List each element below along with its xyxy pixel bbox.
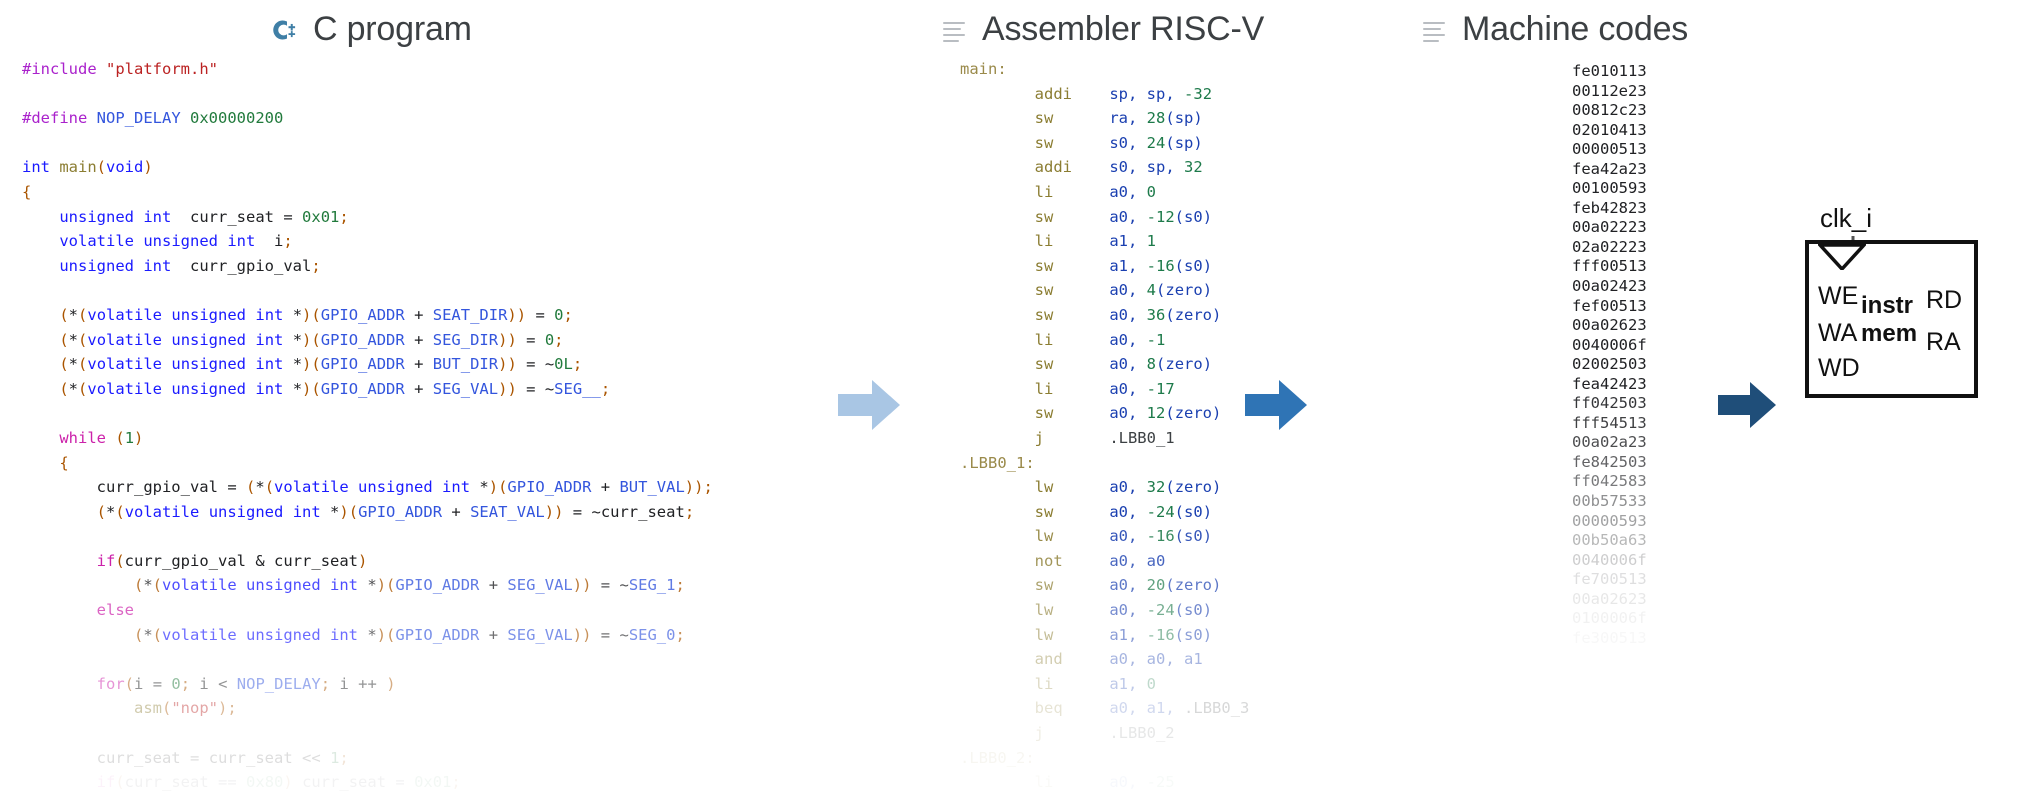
machine-code-line: 02010413 (1572, 121, 1762, 141)
code-line: volatile unsigned int i; (22, 229, 682, 254)
asm-line: sw a0, 4(zero) (960, 278, 1350, 303)
code-line (22, 82, 682, 107)
machine-code-line: 00a02a23 (1572, 433, 1762, 453)
code-line (22, 401, 682, 426)
machine-code-line: 0040006f (1572, 336, 1762, 356)
code-line: curr_seat = curr_seat << 1; (22, 746, 682, 771)
machine-code-line: 0100006f (1572, 609, 1762, 629)
machine-code-line: 00812c23 (1572, 101, 1762, 121)
asm-line: sw a0, 8(zero) (960, 352, 1350, 377)
code-line: #include "platform.h" (22, 57, 682, 82)
machine-code-line: fef00513 (1572, 297, 1762, 317)
code-line: { (22, 180, 682, 205)
slide-canvas: C program #include "platform.h" #define … (0, 0, 2028, 812)
assembler-title: Assembler RISC-V (982, 10, 1264, 49)
code-line (22, 131, 682, 156)
code-line: (*(volatile unsigned int *)(GPIO_ADDR + … (22, 352, 682, 377)
code-line: int main(void) (22, 155, 682, 180)
asm-line: addi s0, sp, 32 (960, 155, 1350, 180)
arrow-c-to-asm (838, 378, 900, 437)
port-wa-label: WA (1818, 319, 1857, 348)
machine-code-line: fff00513 (1572, 257, 1762, 277)
asm-line: sw a0, 20(zero) (960, 573, 1350, 598)
machine-code-line: 00a02223 (1572, 218, 1762, 238)
machine-code-line: 00b57533 (1572, 492, 1762, 512)
machine-code-line: 02a02223 (1572, 238, 1762, 258)
asm-line: .LBB0_2: (960, 746, 1350, 771)
arrow-codes-to-mem (1718, 380, 1776, 435)
asm-line: lw a0, -16(s0) (960, 524, 1350, 549)
asm-line: li a0, 0 (960, 180, 1350, 205)
asm-line: lw a1, -16(s0) (960, 623, 1350, 648)
asm-line: beq a0, a1, .LBB0_3 (960, 696, 1350, 721)
machine-code-line: feb42823 (1572, 199, 1762, 219)
machine-code-line: fe300513 (1572, 629, 1762, 649)
code-line: for(i = 0; i < NOP_DELAY; i ++ ) (22, 672, 682, 697)
code-line (22, 524, 682, 549)
code-line: (*(volatile unsigned int *)(GPIO_ADDR + … (22, 623, 682, 648)
cpp-logo-icon (265, 13, 299, 47)
block-title-line1: instr (1861, 292, 1913, 319)
asm-line: sw a1, -16(s0) (960, 254, 1350, 279)
asm-line: li a0, -1 (960, 328, 1350, 353)
asm-line: li a0, -25 (960, 770, 1350, 795)
c-program-heading: C program (265, 10, 472, 49)
block-title-line2: mem (1861, 320, 1917, 347)
asm-line: sw a0, -24(s0) (960, 500, 1350, 525)
machine-code-line: fe700513 (1572, 570, 1762, 590)
machine-code-line: ff042583 (1572, 472, 1762, 492)
code-line: asm("nop"); (22, 696, 682, 721)
asm-line: lw a0, -24(s0) (960, 598, 1350, 623)
port-we-label: WE (1818, 282, 1858, 311)
asm-line: .LBB0_1: (960, 451, 1350, 476)
instruction-memory-block[interactable]: WE WA WD RD RA instr mem (1805, 240, 1978, 398)
code-line: (*(volatile unsigned int *)(GPIO_ADDR + … (22, 328, 682, 353)
asm-line: sw a0, -12(s0) (960, 205, 1350, 230)
list-lines-icon (940, 16, 968, 44)
machine-codes-title: Machine codes (1462, 10, 1688, 49)
list-lines-icon (1420, 16, 1448, 44)
asm-line: and a0, a0, a1 (960, 647, 1350, 672)
code-line: (*(volatile unsigned int *)(GPIO_ADDR + … (22, 377, 682, 402)
code-line: curr_gpio_val = (*(volatile unsigned int… (22, 475, 682, 500)
code-line: { (22, 451, 682, 476)
machine-code-line: 00a02423 (1572, 277, 1762, 297)
machine-code-line: fe010113 (1572, 62, 1762, 82)
machine-code-line: 00a02623 (1572, 590, 1762, 610)
port-ra-label: RA (1926, 328, 1961, 357)
asm-line: main: (960, 57, 1350, 82)
code-line (22, 278, 682, 303)
code-line: else (22, 598, 682, 623)
asm-line: sw a0, 36(zero) (960, 303, 1350, 328)
assembler-heading: Assembler RISC-V (940, 10, 1264, 49)
machine-code-line: 02002503 (1572, 355, 1762, 375)
machine-code-line: fe842503 (1572, 453, 1762, 473)
machine-code-line: fea42a23 (1572, 160, 1762, 180)
code-line: (*(volatile unsigned int *)(GPIO_ADDR + … (22, 573, 682, 598)
machine-code-line: 0040006f (1572, 551, 1762, 571)
asm-line: lw a0, 32(zero) (960, 475, 1350, 500)
machine-code-line: 00a02623 (1572, 316, 1762, 336)
machine-code-line: 00000593 (1572, 512, 1762, 532)
clk-input-label: clk_i (1820, 203, 1872, 234)
port-rd-label: RD (1926, 286, 1962, 315)
asm-line: sw ra, 28(sp) (960, 106, 1350, 131)
machine-codes-heading: Machine codes (1420, 10, 1688, 49)
asm-line: li a1, 0 (960, 672, 1350, 697)
machine-code-line: 00100593 (1572, 179, 1762, 199)
c-program-title: C program (313, 10, 472, 49)
code-line: (*(volatile unsigned int *)(GPIO_ADDR + … (22, 500, 682, 525)
machine-code-line: 00112e23 (1572, 82, 1762, 102)
arrow-asm-to-codes (1245, 378, 1307, 437)
asm-line: addi sp, sp, -32 (960, 82, 1350, 107)
code-line: if(curr_seat == 0x80) curr_seat = 0x01; (22, 770, 682, 795)
code-line: unsigned int curr_gpio_val; (22, 254, 682, 279)
port-wd-label: WD (1818, 354, 1860, 383)
machine-code-line: 00b50a63 (1572, 531, 1762, 551)
code-line (22, 721, 682, 746)
asm-line: sw s0, 24(sp) (960, 131, 1350, 156)
asm-line: j .LBB0_2 (960, 721, 1350, 746)
c-program-code[interactable]: #include "platform.h" #define NOP_DELAY … (22, 57, 682, 795)
asm-line: li a1, 1 (960, 229, 1350, 254)
clock-triangle-icon (1818, 244, 1866, 270)
code-line: if(curr_gpio_val & curr_seat) (22, 549, 682, 574)
code-line (22, 647, 682, 672)
machine-code-line: 00000513 (1572, 140, 1762, 160)
code-line: unsigned int curr_seat = 0x01; (22, 205, 682, 230)
code-line: while (1) (22, 426, 682, 451)
machine-codes-list[interactable]: fe01011300112e2300812c230201041300000513… (1572, 62, 1762, 648)
code-line: (*(volatile unsigned int *)(GPIO_ADDR + … (22, 303, 682, 328)
asm-line: not a0, a0 (960, 549, 1350, 574)
code-line: #define NOP_DELAY 0x00000200 (22, 106, 682, 131)
